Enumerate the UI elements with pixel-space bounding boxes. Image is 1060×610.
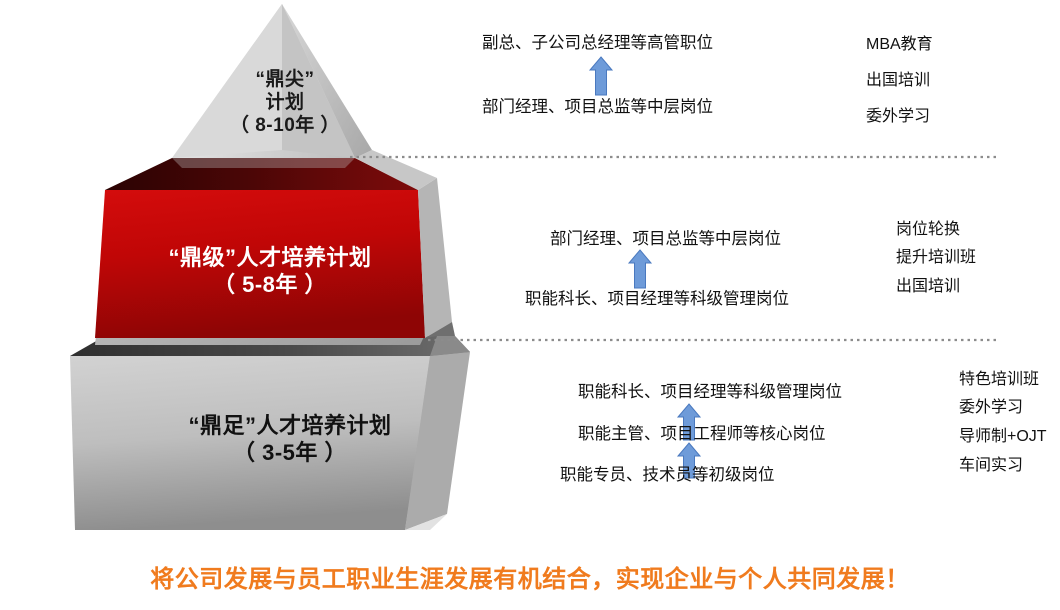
method-bottom-1: 特色培训班: [959, 372, 1039, 388]
diagram-canvas: “鼎尖” 计划 （ 8-10年 ） “鼎级”人才培养计划 （ 5-8年 ） “鼎…: [0, 0, 1060, 610]
method-bottom-3: 导师制+OJT: [959, 429, 1047, 445]
method-top-2: 出国培训: [866, 73, 930, 89]
tier-top-label: “鼎尖” 计划 （ 8-10年 ）: [175, 68, 395, 138]
role-bottom-middle: 职能主管、项目工程师等核心岗位: [578, 426, 826, 443]
up-arrow-icon-middle: [629, 250, 651, 288]
role-top-senior: 副总、子公司总经理等高管职位: [482, 35, 713, 52]
method-top-1: MBA教育: [866, 37, 933, 53]
method-middle-2: 提升培训班: [896, 250, 976, 266]
method-top-3: 委外学习: [866, 109, 930, 125]
method-middle-1: 岗位轮换: [896, 222, 960, 238]
method-bottom-2: 委外学习: [959, 400, 1023, 416]
tier-bottom-label: “鼎足”人才培养计划 （ 3-5年 ）: [110, 413, 470, 467]
role-middle-lower: 职能科长、项目经理等科级管理岗位: [525, 291, 789, 308]
tier-middle-label: “鼎级”人才培养计划 （ 5-8年 ）: [100, 245, 440, 299]
role-bottom-upper: 职能科长、项目经理等科级管理岗位: [578, 384, 842, 401]
role-middle-upper: 部门经理、项目总监等中层岗位: [550, 231, 781, 248]
footer-slogan: 将公司发展与员工职业生涯发展有机结合，实现企业与个人共同发展！: [0, 559, 1060, 594]
up-arrow-icon-top: [590, 57, 612, 95]
role-bottom-lower: 职能专员、技术员等初级岗位: [560, 467, 775, 484]
method-bottom-4: 车间实习: [959, 458, 1023, 474]
method-middle-3: 出国培训: [896, 279, 960, 295]
role-top-middle: 部门经理、项目总监等中层岗位: [482, 99, 713, 116]
